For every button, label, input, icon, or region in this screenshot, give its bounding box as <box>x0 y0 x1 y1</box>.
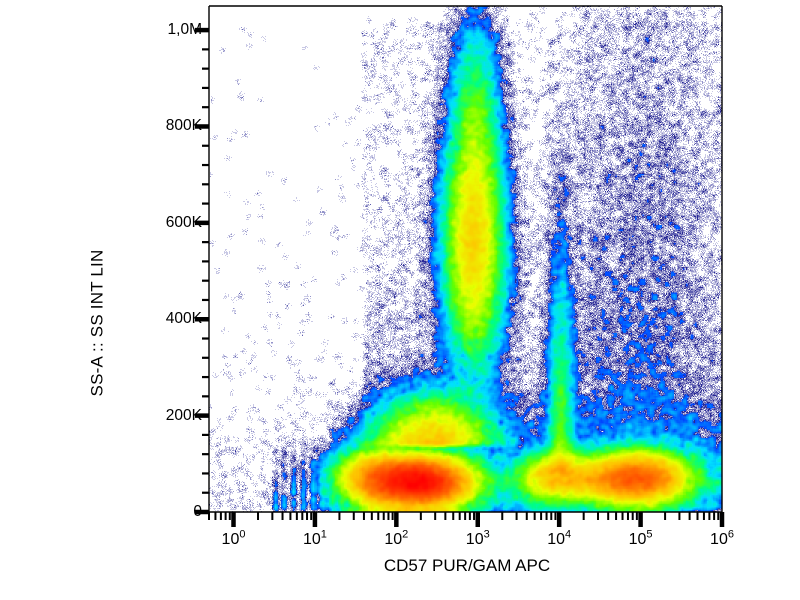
y-axis-title: SS-A :: SS INT LIN <box>77 133 117 513</box>
x-tick-label: 104 <box>547 531 571 549</box>
x-tick-label: 102 <box>384 531 408 549</box>
x-axis-tick-labels: 100101102103104105106 <box>0 0 800 600</box>
y-axis-title-text: SS-A :: SS INT LIN <box>87 250 107 397</box>
x-tick-label: 103 <box>466 531 490 549</box>
x-tick-label: 100 <box>222 531 246 549</box>
x-tick-label: 105 <box>629 531 653 549</box>
flow-cytometry-plot: 0200K400K600K800K1,0M 100101102103104105… <box>0 0 800 600</box>
x-tick-label: 106 <box>710 531 734 549</box>
x-tick-label: 101 <box>303 531 327 549</box>
x-axis-title: CD57 PUR/GAM APC <box>210 556 724 576</box>
